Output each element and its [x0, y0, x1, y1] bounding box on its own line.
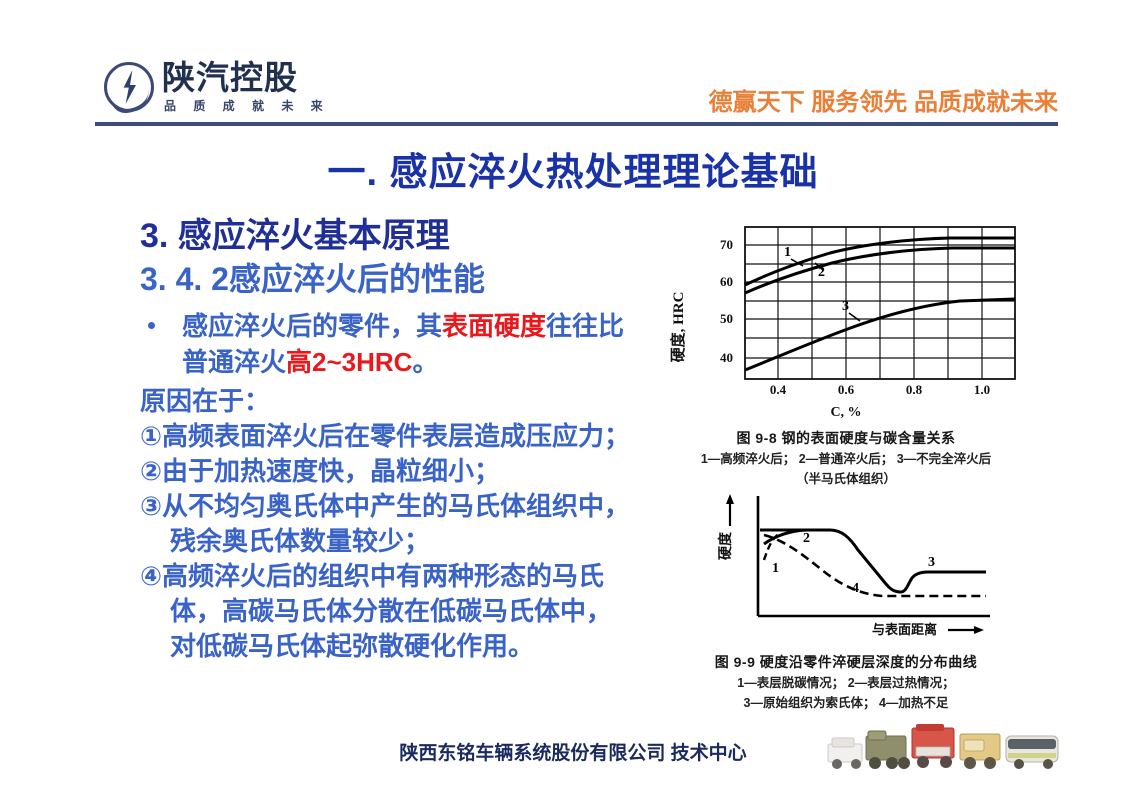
bullet-highlight-surface-hardness: 表面硬度 — [442, 311, 546, 341]
svg-text:硬度, HRC: 硬度, HRC — [669, 292, 687, 363]
svg-text:0.6: 0.6 — [838, 382, 855, 397]
chart-xlabel: C, % — [660, 405, 1032, 421]
list-item: 体，高碳马氏体分散在低碳马氏体中， — [140, 594, 680, 629]
list-item: ①高频表面淬火后在零件表层造成压应力； — [140, 419, 680, 454]
header-divider — [95, 122, 1058, 126]
reason-label: 原因在于： — [140, 384, 680, 419]
chart-hardness-vs-carbon: 硬度, HRC 70 50 60 40 — [660, 222, 1032, 402]
bullet-text-part-1: 感应淬火后的零件，其 — [182, 311, 442, 341]
lightning-bolt-circle-icon — [104, 62, 154, 112]
bullet-text-part-4: 。 — [412, 347, 438, 377]
svg-text:50: 50 — [720, 311, 733, 326]
list-item: ④高频淬火后的组织中有两种形态的马氏 — [140, 559, 680, 594]
figure-9-8: 硬度, HRC 70 50 60 40 — [660, 222, 1032, 488]
truck-fleet-photo — [820, 722, 1070, 784]
chart-hardness-vs-depth: 硬度 1 2 3 4 与表面距离 — [660, 488, 1032, 640]
section-heading-342: 3. 4. 2感应淬火后的性能 — [140, 258, 680, 300]
svg-text:与表面距离: 与表面距离 — [872, 622, 937, 637]
bullet-dot-icon — [148, 322, 155, 329]
bullet-text-part-3: 普通淬火 — [182, 347, 286, 377]
svg-text:0.8: 0.8 — [906, 382, 923, 397]
figure-legend-line: 1—表层脱碳情况； 2—表层过热情况； — [660, 675, 1032, 692]
svg-text:70: 70 — [720, 237, 733, 252]
bullet-paragraph: 感应淬火后的零件，其表面硬度往往比 普通淬火高2~3HRC。 — [140, 308, 680, 380]
svg-text:0.4: 0.4 — [770, 382, 787, 397]
figure-caption: 图 9-8 钢的表面硬度与碳含量关系 — [660, 428, 1032, 448]
logo-company-name: 陕汽控股 — [162, 58, 298, 98]
list-item: ③从不均匀奥氏体中产生的马氏体组织中， — [140, 489, 680, 524]
company-logo: 陕汽控股 品 质 成 就 未 来 — [104, 60, 334, 118]
svg-text:4: 4 — [852, 581, 859, 596]
logo-tagline: 品 质 成 就 未 来 — [164, 97, 330, 114]
svg-text:2: 2 — [803, 531, 810, 546]
figure-caption: 图 9-9 硬度沿零件淬硬层深度的分布曲线 — [660, 652, 1032, 672]
list-item: 对低碳马氏体起弥散硬化作用。 — [140, 629, 680, 664]
list-item: 残余奥氏体数量较少； — [140, 524, 680, 559]
truck-fleet-illustration — [820, 722, 1070, 784]
figure-legend-line: （半马氏体组织） — [660, 471, 1032, 488]
content-column: 3. 感应淬火基本原理 3. 4. 2感应淬火后的性能 感应淬火后的零件，其表面… — [140, 214, 680, 664]
list-item: ②由于加热速度快，晶粒细小； — [140, 454, 680, 489]
figure-9-9: 硬度 1 2 3 4 与表面距离 图 9-9 硬度沿零件淬硬层深度的分布曲线 1… — [660, 488, 1032, 712]
svg-text:1: 1 — [784, 245, 791, 260]
svg-text:3: 3 — [928, 555, 935, 570]
slide-title: 一. 感应淬火热处理理论基础 — [0, 141, 1146, 196]
svg-text:1: 1 — [772, 561, 779, 576]
svg-text:60: 60 — [720, 274, 733, 289]
svg-text:40: 40 — [720, 350, 733, 365]
figure-legend-line: 3—原始组织为索氏体； 4—加热不足 — [660, 695, 1032, 712]
section-heading-3: 3. 感应淬火基本原理 — [140, 214, 680, 258]
svg-text:3: 3 — [842, 299, 849, 314]
bullet-text-part-2: 往往比 — [546, 311, 624, 341]
presentation-slide: 陕汽控股 品 质 成 就 未 来 德赢天下 服务领先 品质成就未来 一. 感应淬… — [0, 0, 1146, 811]
svg-text:1.0: 1.0 — [974, 382, 990, 397]
bullet-highlight-hrc: 高2~3HRC — [286, 347, 412, 377]
svg-text:硬度: 硬度 — [717, 531, 734, 560]
figure-legend-line: 1—高频淬火后； 2—普通淬火后； 3—不完全淬火后 — [660, 451, 1032, 468]
header-slogan: 德赢天下 服务领先 品质成就未来 — [709, 82, 1058, 117]
